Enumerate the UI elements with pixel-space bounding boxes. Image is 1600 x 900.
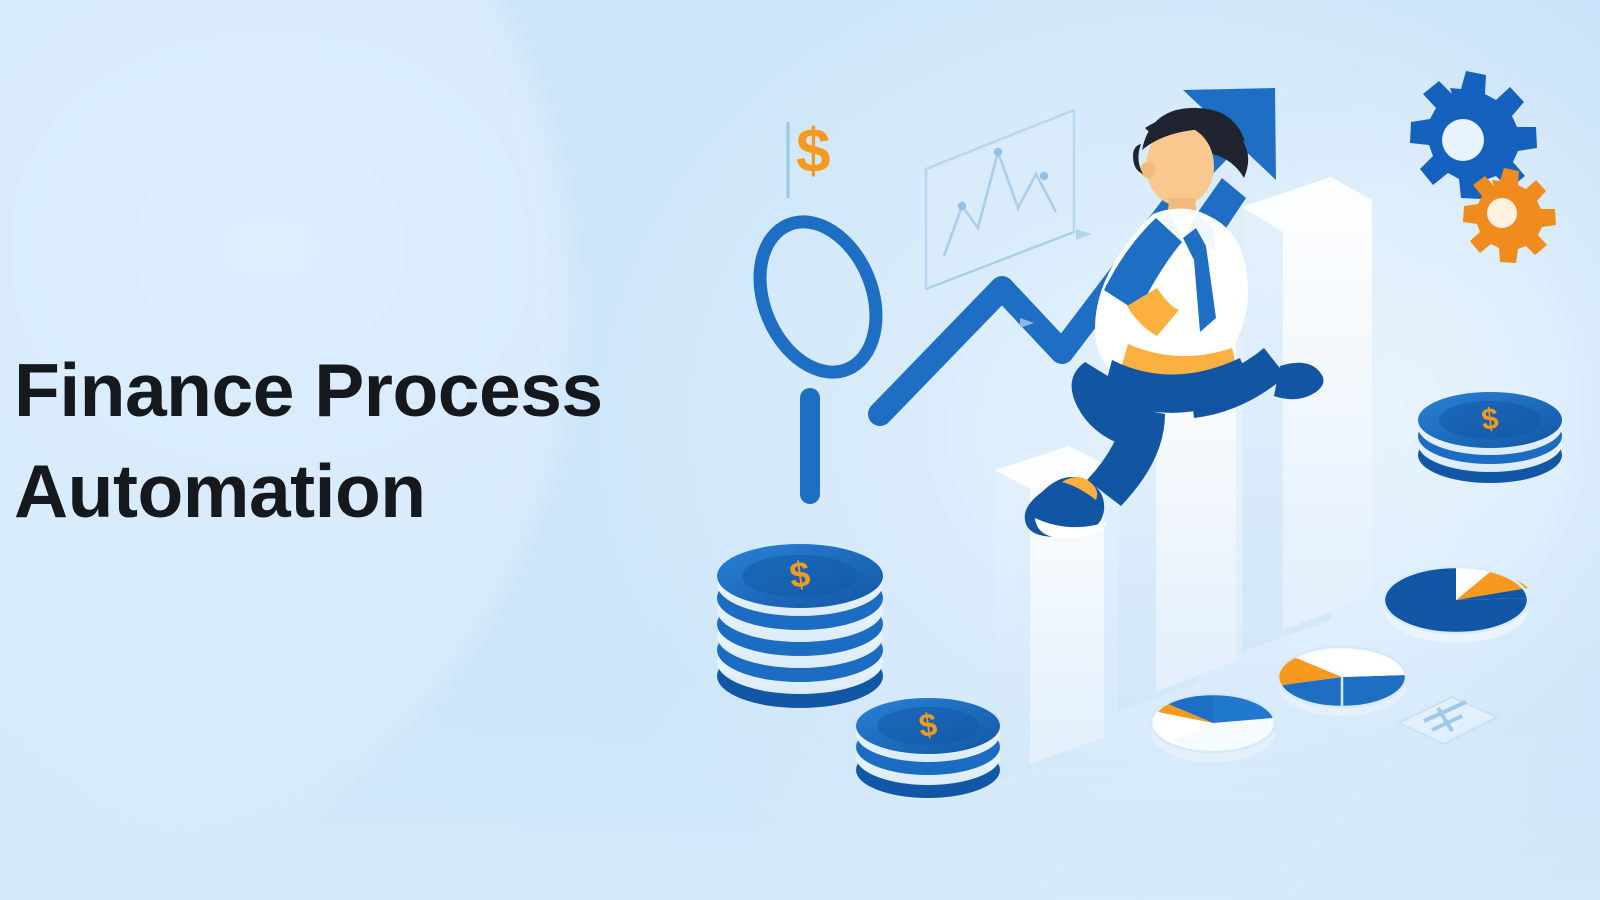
magnifier-icon [739, 204, 898, 504]
pie-chart-medium-icon [1278, 647, 1406, 716]
finance-process-automation-banner: Finance Process Automation [0, 0, 1600, 900]
coin-stack-right-icon: $ [1418, 392, 1562, 483]
coin-stack-left-icon: $ [717, 544, 883, 708]
svg-text:$: $ [796, 117, 830, 186]
document-sheet-icon [1399, 697, 1497, 744]
gear-small-icon [1463, 168, 1556, 263]
dollar-sign-icon: $ [788, 117, 830, 198]
pie-chart-small-icon [1151, 694, 1275, 762]
pie-chart-large-icon [1384, 567, 1528, 643]
line-chart-panel-icon [926, 110, 1074, 289]
finance-process-automation-illustration: $ [0, 0, 1600, 900]
coin-stack-center-icon: $ [856, 698, 1000, 798]
